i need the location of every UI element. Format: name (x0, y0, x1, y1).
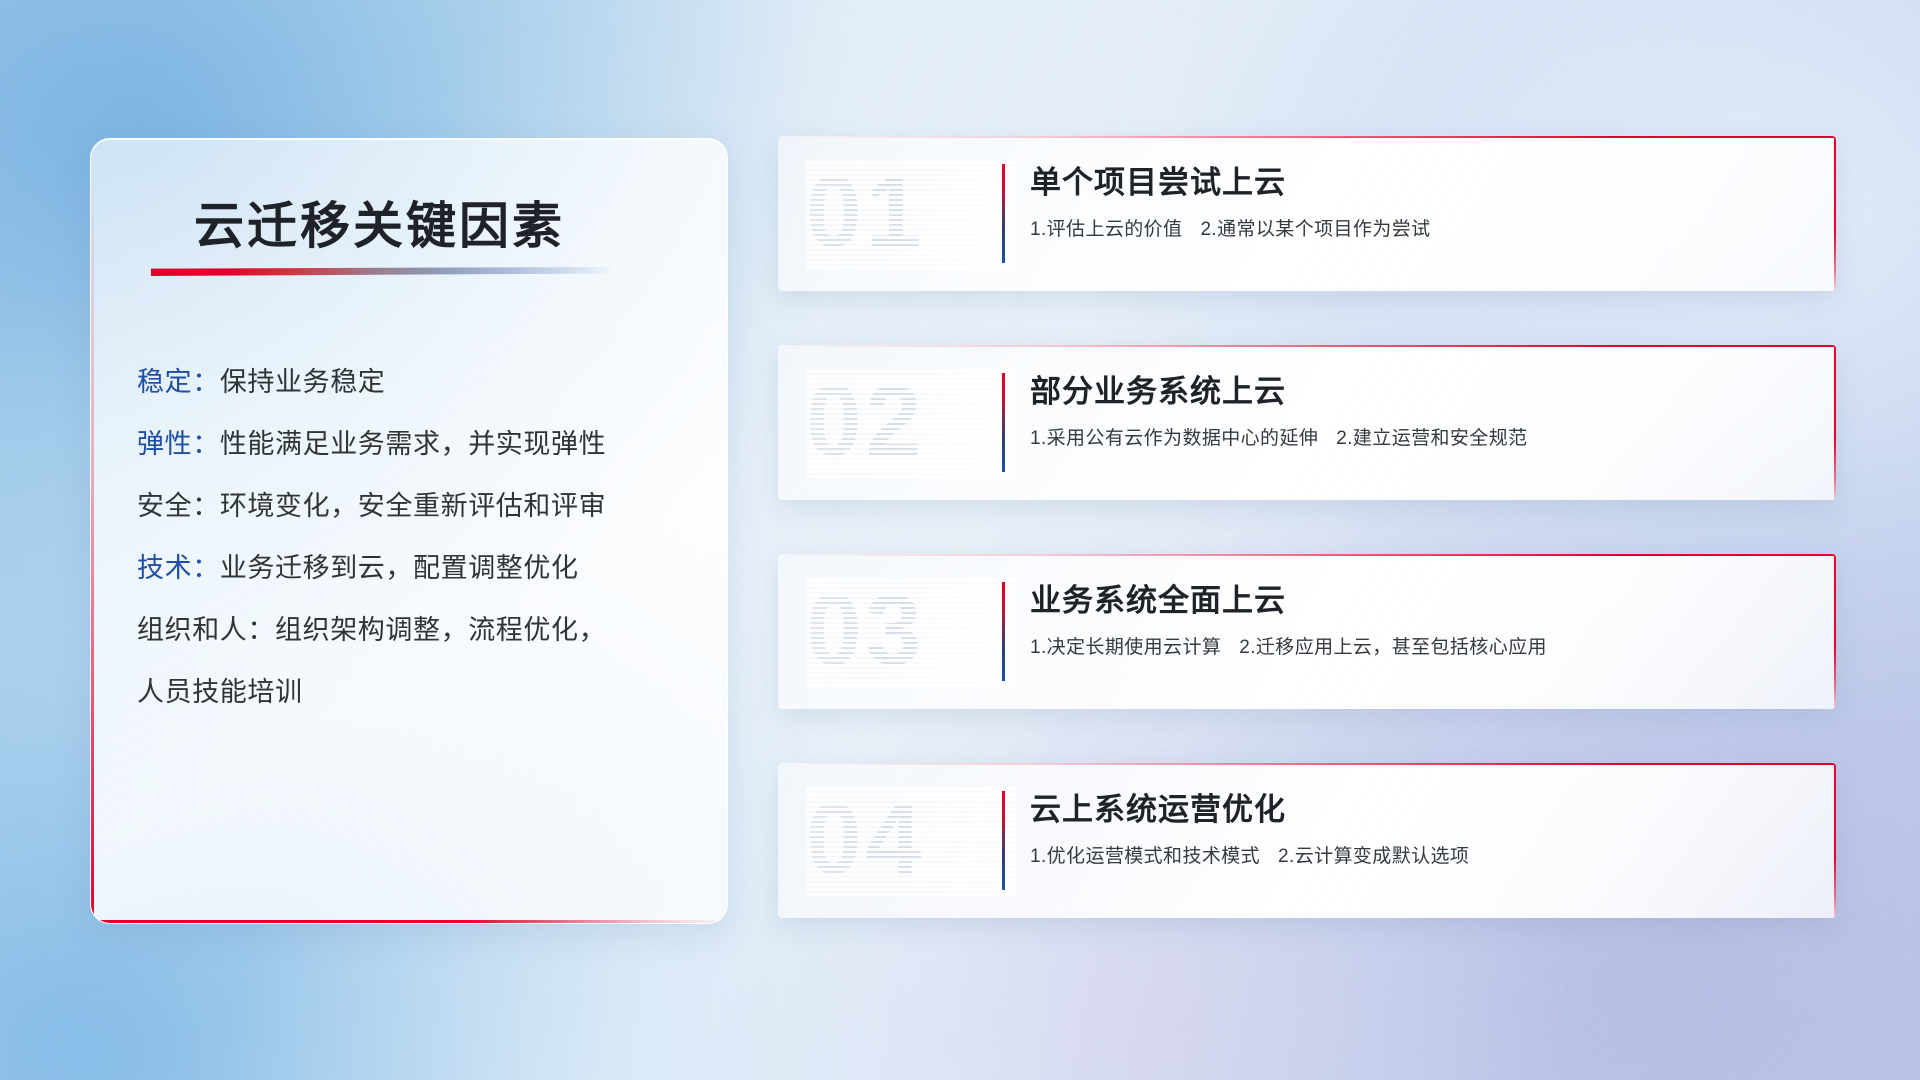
slide-stage: 云迁移关键因素 稳定：保持业务稳定 弹性：性能满足业务需求，并实现弹性 安全：环… (0, 0, 1920, 1080)
step-subtitle: 1.采用公有云作为数据中心的延伸2.建立运营和安全规范 (1030, 426, 1810, 452)
step-subtitle-part-1: 1.评估上云的价值 (1030, 219, 1182, 240)
step-text-block: 业务系统全面上云 1.决定长期使用云计算2.迁移应用上云，甚至包括核心应用 (1030, 580, 1810, 661)
step-card-04[interactable]: 04 云上系统运营优化 1.优化运营模式和技术模式2.云计算变成默认选项 (778, 763, 1836, 918)
key-factors-panel: 云迁移关键因素 稳定：保持业务稳定 弹性：性能满足业务需求，并实现弹性 安全：环… (90, 138, 728, 924)
step-number-tint (806, 577, 1016, 687)
step-subtitle: 1.决定长期使用云计算2.迁移应用上云，甚至包括核心应用 (1030, 635, 1810, 661)
page-title: 云迁移关键因素 (194, 186, 565, 258)
step-subtitle-part-1: 1.采用公有云作为数据中心的延伸 (1030, 428, 1318, 449)
list-item-text: 组织架构调整，流程优化， (275, 615, 606, 645)
key-factors-list: 稳定：保持业务稳定 弹性：性能满足业务需求，并实现弹性 安全：环境变化，安全重新… (137, 351, 693, 723)
step-number-tint (806, 159, 1016, 269)
step-subtitle: 1.优化运营模式和技术模式2.云计算变成默认选项 (1030, 844, 1810, 870)
list-item: 安全：环境变化，安全重新评估和评审 (137, 475, 693, 537)
list-item-text: 保持业务稳定 (220, 367, 386, 397)
step-text-block: 云上系统运营优化 1.优化运营模式和技术模式2.云计算变成默认选项 (1030, 789, 1810, 870)
migration-steps-list: 01 单个项目尝试上云 1.评估上云的价值2.通常以某个项目作为尝试 02 部分… (778, 136, 1836, 972)
step-title: 业务系统全面上云 (1030, 580, 1810, 622)
step-subtitle-part-2: 2.通常以某个项目作为尝试 (1200, 219, 1430, 240)
list-item-continuation: 人员技能培训 (137, 661, 693, 723)
list-item-key: 组织和人： (137, 615, 275, 645)
step-number-tint (806, 786, 1016, 896)
step-subtitle-part-2: 2.云计算变成默认选项 (1278, 846, 1469, 867)
title-underline-accent (151, 267, 615, 276)
step-number-01: 01 (806, 159, 1016, 269)
step-divider-bar (1002, 373, 1005, 472)
step-title: 部分业务系统上云 (1030, 371, 1810, 413)
step-subtitle-part-1: 1.决定长期使用云计算 (1030, 637, 1221, 658)
step-number-02: 02 (806, 368, 1016, 478)
list-item: 弹性：性能满足业务需求，并实现弹性 (137, 413, 693, 475)
step-subtitle-part-1: 1.优化运营模式和技术模式 (1030, 846, 1260, 867)
list-item-text: 人员技能培训 (137, 677, 303, 707)
list-item-key: 弹性： (137, 429, 220, 459)
list-item-key: 技术： (137, 553, 220, 583)
step-title: 单个项目尝试上云 (1030, 162, 1810, 204)
step-card-03[interactable]: 03 业务系统全面上云 1.决定长期使用云计算2.迁移应用上云，甚至包括核心应用 (778, 554, 1836, 709)
step-subtitle-part-2: 2.建立运营和安全规范 (1336, 428, 1527, 449)
list-item-text: 性能满足业务需求，并实现弹性 (220, 429, 606, 459)
step-text-block: 单个项目尝试上云 1.评估上云的价值2.通常以某个项目作为尝试 (1030, 162, 1810, 243)
list-item-text: 环境变化，安全重新评估和评审 (220, 491, 606, 521)
list-item: 技术：业务迁移到云，配置调整优化 (137, 537, 693, 599)
step-title: 云上系统运营优化 (1030, 789, 1810, 831)
step-number-03: 03 (806, 577, 1016, 687)
step-divider-bar (1002, 791, 1005, 890)
step-card-01[interactable]: 01 单个项目尝试上云 1.评估上云的价值2.通常以某个项目作为尝试 (778, 136, 1836, 291)
list-item: 组织和人：组织架构调整，流程优化， (137, 599, 693, 661)
step-card-02[interactable]: 02 部分业务系统上云 1.采用公有云作为数据中心的延伸2.建立运营和安全规范 (778, 345, 1836, 500)
list-item-text: 业务迁移到云，配置调整优化 (220, 553, 579, 583)
step-divider-bar (1002, 164, 1005, 263)
step-divider-bar (1002, 582, 1005, 681)
list-item-key: 稳定： (137, 367, 220, 397)
list-item: 稳定：保持业务稳定 (137, 351, 693, 413)
step-subtitle: 1.评估上云的价值2.通常以某个项目作为尝试 (1030, 217, 1810, 243)
step-number-04: 04 (806, 786, 1016, 896)
step-text-block: 部分业务系统上云 1.采用公有云作为数据中心的延伸2.建立运营和安全规范 (1030, 371, 1810, 452)
step-number-tint (806, 368, 1016, 478)
step-subtitle-part-2: 2.迁移应用上云，甚至包括核心应用 (1239, 637, 1547, 658)
list-item-key: 安全： (137, 491, 220, 521)
